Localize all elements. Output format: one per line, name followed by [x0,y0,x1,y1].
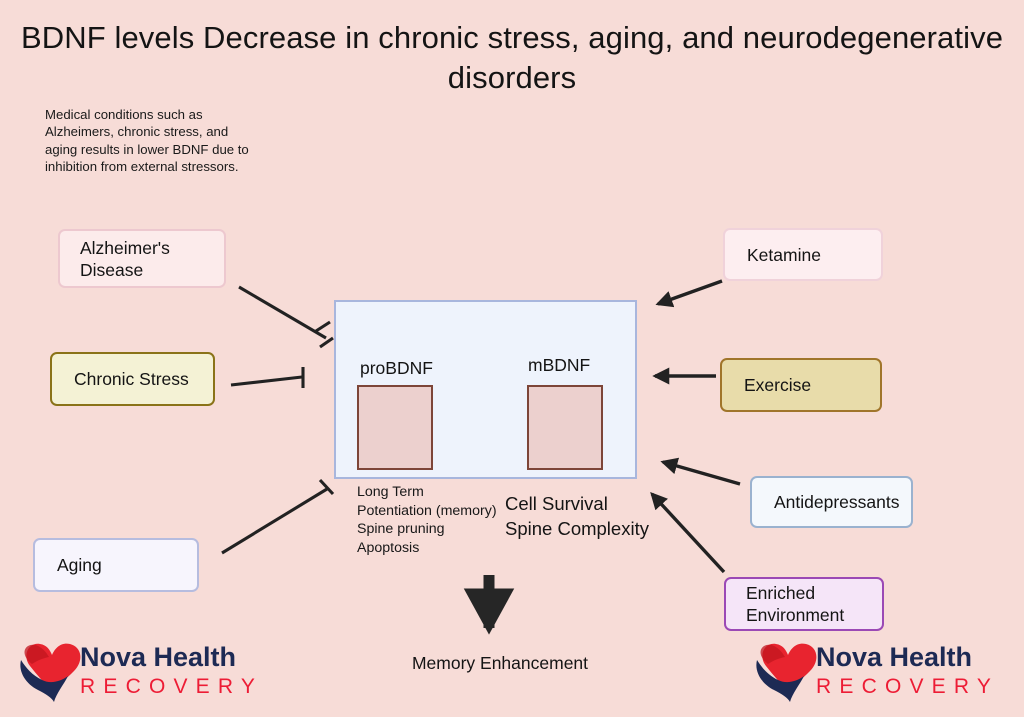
heart-in-hand-icon [756,644,816,702]
memory-enhancement-label: Memory Enhancement [370,653,630,674]
node-label: Antidepressants [774,491,900,513]
node-antidepressants[interactable]: Antidepressants [750,476,913,528]
connector-chronic-stress-inhibits [231,367,303,388]
logo-nova-health-right: Nova Health RECOVERY [752,628,1002,704]
logo-secondary-text: RECOVERY [816,675,999,698]
connector-antidepressants-promotes [663,462,740,484]
logo-primary-text: Nova Health [816,642,972,672]
logo-primary-text: Nova Health [80,642,236,672]
probdnf-label: proBDNF [360,358,433,378]
connector-ketamine-promotes [658,281,722,304]
node-aging[interactable]: Aging [33,538,199,592]
node-label: Enriched Environment [746,582,882,626]
node-enriched-environment[interactable]: Enriched Environment [724,577,884,631]
node-exercise[interactable]: Exercise [720,358,882,412]
probdnf-outcomes-text: Long Term Potentiation (memory) Spine pr… [357,483,502,557]
node-label: Chronic Stress [74,368,189,390]
node-label: Ketamine [747,244,821,266]
heart-in-hand-icon [20,644,80,702]
connector-enriched-promotes [652,494,724,572]
node-label: Aging [57,554,102,576]
node-label: Exercise [744,374,811,396]
caption-text: Medical conditions such as Alzheimers, c… [45,106,250,176]
node-chronic-stress[interactable]: Chronic Stress [50,352,215,406]
mbdnf-outcomes-text: Cell Survival Spine Complexity [505,492,655,541]
node-label: Alzheimer's Disease [80,237,224,281]
page-title: BDNF levels Decrease in chronic stress, … [0,18,1024,98]
node-ketamine[interactable]: Ketamine [723,228,883,281]
connector-alzheimers-inhibits [239,287,333,347]
diagram-canvas: BDNF levels Decrease in chronic stress, … [0,0,1024,717]
node-alzheimers-disease[interactable]: Alzheimer's Disease [58,229,226,288]
mbdnf-label: mBDNF [528,355,590,375]
mbdnf-box [527,385,603,470]
logo-nova-health-left: Nova Health RECOVERY [16,628,266,704]
connector-aging-inhibits [222,480,333,553]
probdnf-box [357,385,433,470]
logo-secondary-text: RECOVERY [80,675,263,698]
